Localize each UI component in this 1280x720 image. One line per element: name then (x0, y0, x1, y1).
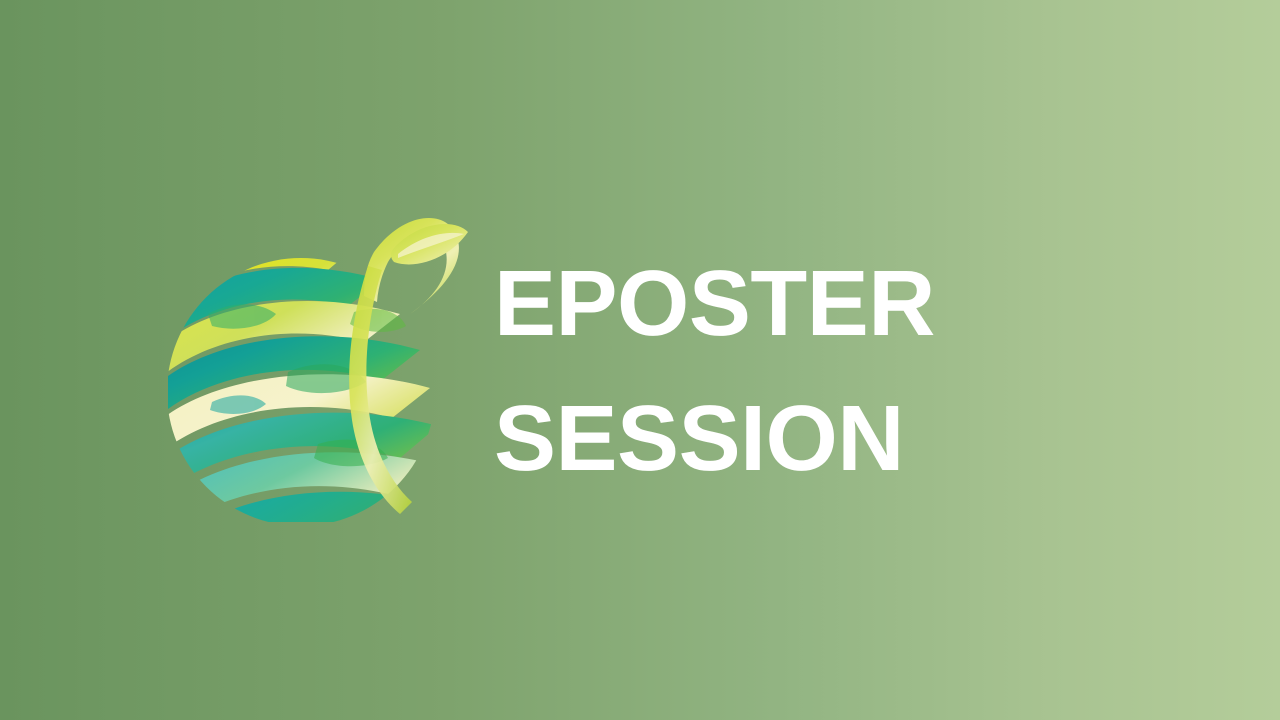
title-line-session: SESSION (494, 371, 1134, 506)
striped-globe-leaf-logo (168, 196, 468, 522)
slide-root: EPOSTER SESSION (0, 0, 1280, 720)
page-title: EPOSTER SESSION (494, 236, 1134, 506)
title-line-eposter: EPOSTER (494, 236, 1134, 371)
